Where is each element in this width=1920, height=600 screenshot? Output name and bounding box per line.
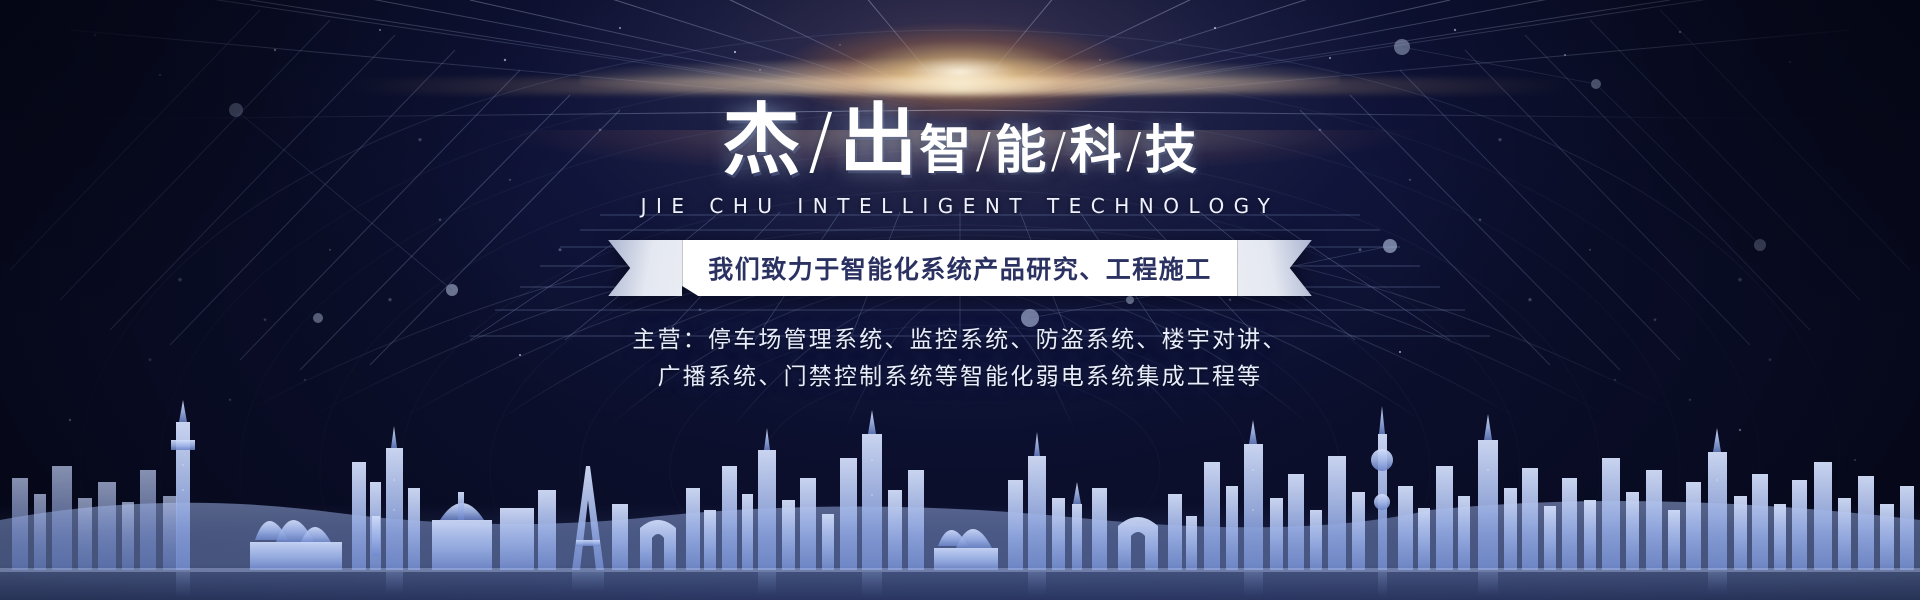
title-char-5: 科	[1070, 125, 1123, 177]
title-slash-3: /	[1050, 127, 1066, 175]
slogan-ribbon: 我们致力于智能化系统产品研究、工程施工	[608, 240, 1312, 296]
banner-subtitle-english: JIE CHU INTELLIGENT TECHNOLOGY	[641, 194, 1280, 218]
ribbon-body: 我们致力于智能化系统产品研究、工程施工	[682, 240, 1238, 296]
title-char-4: 能	[994, 125, 1047, 177]
ribbon-tail-left	[608, 240, 682, 296]
city-skyline-graphic	[0, 370, 1920, 600]
hero-banner: 杰 / 出 智 / 能 / 科 / 技 JIE CHU INTELLIGENT …	[0, 0, 1920, 600]
description-line-2: 广播系统、门禁控制系统等智能化弱电系统集成工程等	[632, 359, 1287, 396]
title-char-1: 杰	[722, 102, 802, 180]
banner-title: 杰 / 出 智 / 能 / 科 / 技	[722, 102, 1198, 180]
title-char-3: 智	[919, 125, 972, 177]
banner-description: 主营：停车场管理系统、监控系统、防盗系统、楼宇对讲、 广播系统、门禁控制系统等智…	[632, 322, 1287, 397]
description-line-1: 主营：停车场管理系统、监控系统、防盗系统、楼宇对讲、	[632, 322, 1287, 359]
title-slash-4: /	[1126, 127, 1142, 175]
ribbon-slogan-text: 我们致力于智能化系统产品研究、工程施工	[708, 250, 1212, 286]
title-slash-1: /	[808, 104, 833, 178]
ribbon-tail-right	[1238, 240, 1312, 296]
title-slash-2: /	[975, 127, 991, 175]
title-char-2: 出	[839, 102, 919, 180]
title-char-6: 技	[1145, 125, 1198, 177]
